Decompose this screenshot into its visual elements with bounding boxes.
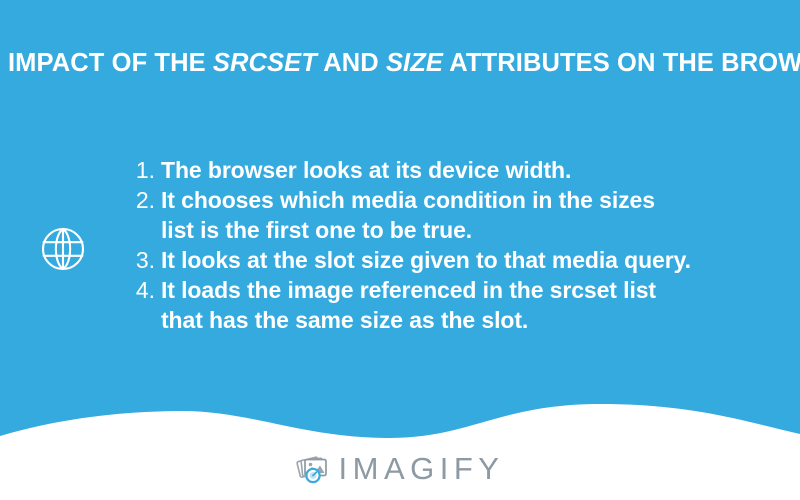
list-item: 3. It looks at the slot size given to th… — [131, 245, 691, 275]
list-item-number: 3. — [131, 245, 161, 275]
title-segment-size: SIZE — [386, 49, 443, 77]
list-item-text: The browser looks at its device width. — [161, 155, 691, 185]
list-item-number: 1. — [131, 155, 161, 185]
imagify-photos-gauge-icon — [296, 453, 332, 485]
list-item: 2. It chooses which media condition in t… — [131, 185, 691, 245]
title-segment-1: IMPACT OF THE — [8, 49, 213, 77]
infographic-canvas: IMPACT OF THE SRCSET AND SIZE ATTRIBUTES… — [0, 0, 800, 500]
imagify-logo: IMAGIFY — [0, 448, 800, 490]
steps-list: 1. The browser looks at its device width… — [131, 155, 691, 335]
list-item-text: It chooses which media condition in the … — [161, 185, 691, 245]
title-segment-3: AND — [317, 49, 386, 77]
list-item: 1. The browser looks at its device width… — [131, 155, 691, 185]
title-segment-5: ATTRIBUTES ON THE BROWSER — [443, 49, 800, 77]
globe-icon — [40, 226, 86, 272]
list-item-text: It looks at the slot size given to that … — [161, 245, 691, 275]
page-title: IMPACT OF THE SRCSET AND SIZE ATTRIBUTES… — [0, 48, 800, 78]
list-item: 4. It loads the image referenced in the … — [131, 275, 691, 335]
title-segment-srcset: SRCSET — [213, 49, 317, 77]
imagify-logo-text: IMAGIFY — [339, 452, 505, 486]
list-item-text: It loads the image referenced in the src… — [161, 275, 691, 335]
list-item-number: 2. — [131, 185, 161, 215]
list-item-number: 4. — [131, 275, 161, 305]
